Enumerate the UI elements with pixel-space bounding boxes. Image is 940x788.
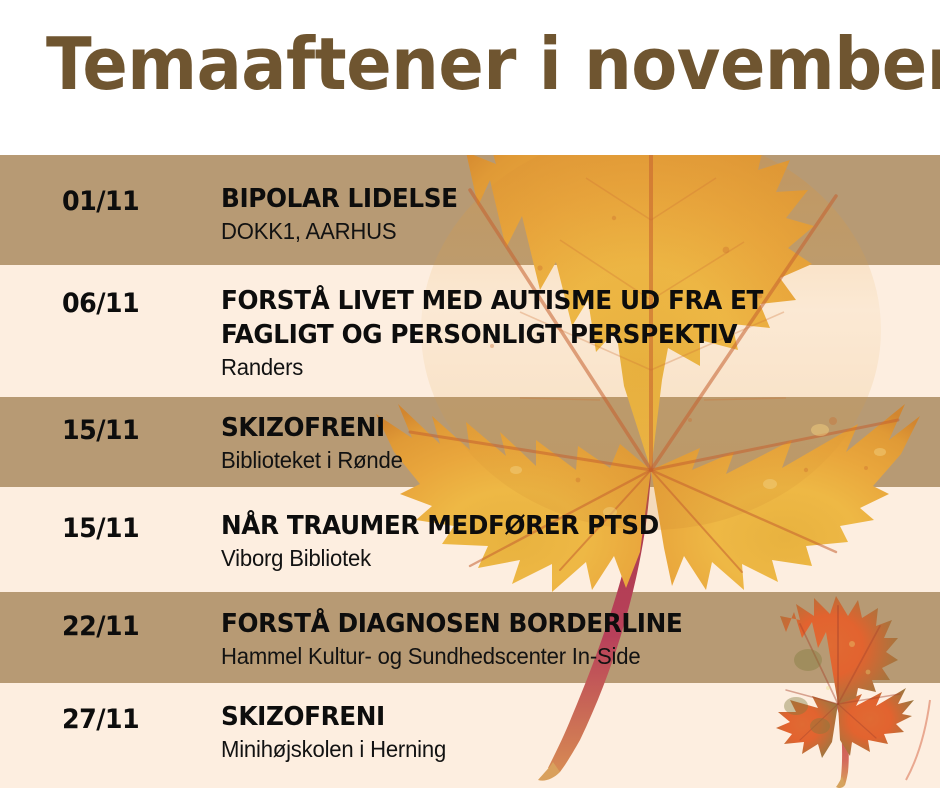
event-body: SKIZOFRENI Biblioteket i Rønde: [221, 411, 921, 475]
event-venue: Randers: [221, 352, 893, 382]
event-date: 01/11: [62, 186, 139, 217]
event-body: FORSTÅ DIAGNOSEN BORDERLINE Hammel Kultu…: [221, 607, 921, 671]
page-title: Temaaftener i november: [46, 24, 940, 105]
event-date: 06/11: [62, 288, 139, 319]
event-venue: Hammel Kultur- og Sundhedscenter In-Side: [221, 641, 893, 671]
event-title: FORSTÅ DIAGNOSEN BORDERLINE: [221, 607, 886, 641]
event-row[interactable]: 27/11 SKIZOFRENI Minihøjskolen i Herning: [0, 683, 940, 788]
event-row[interactable]: 01/11 BIPOLAR LIDELSE DOKK1, AARHUS: [0, 155, 940, 265]
event-title: FORSTÅ LIVET MED AUTISME UD FRA ET: [221, 284, 886, 318]
event-title: BIPOLAR LIDELSE: [221, 182, 886, 216]
event-date: 15/11: [62, 415, 139, 446]
event-title-line2: FAGLIGT OG PERSONLIGT PERSPEKTIV: [221, 318, 886, 352]
event-title: NÅR TRAUMER MEDFØRER PTSD: [221, 509, 886, 543]
event-title: SKIZOFRENI: [221, 700, 886, 734]
event-venue: DOKK1, AARHUS: [221, 216, 893, 246]
event-body: NÅR TRAUMER MEDFØRER PTSD Viborg Bibliot…: [221, 509, 921, 573]
event-body: SKIZOFRENI Minihøjskolen i Herning: [221, 700, 921, 764]
event-title: SKIZOFRENI: [221, 411, 886, 445]
poster-canvas: Temaaftener i november 01/11 BIPOLAR LID…: [0, 0, 940, 788]
event-venue: Biblioteket i Rønde: [221, 445, 893, 475]
event-row[interactable]: 06/11 FORSTÅ LIVET MED AUTISME UD FRA ET…: [0, 265, 940, 397]
event-row[interactable]: 15/11 SKIZOFRENI Biblioteket i Rønde: [0, 397, 940, 487]
event-row[interactable]: 22/11 FORSTÅ DIAGNOSEN BORDERLINE Hammel…: [0, 592, 940, 683]
event-venue: Minihøjskolen i Herning: [221, 734, 893, 764]
event-venue: Viborg Bibliotek: [221, 543, 893, 573]
event-date: 15/11: [62, 513, 139, 544]
event-date: 22/11: [62, 611, 139, 642]
event-body: FORSTÅ LIVET MED AUTISME UD FRA ET FAGLI…: [221, 284, 921, 382]
event-row[interactable]: 15/11 NÅR TRAUMER MEDFØRER PTSD Viborg B…: [0, 487, 940, 592]
poster-header: Temaaftener i november: [0, 0, 940, 155]
event-date: 27/11: [62, 704, 139, 735]
event-body: BIPOLAR LIDELSE DOKK1, AARHUS: [221, 182, 921, 246]
